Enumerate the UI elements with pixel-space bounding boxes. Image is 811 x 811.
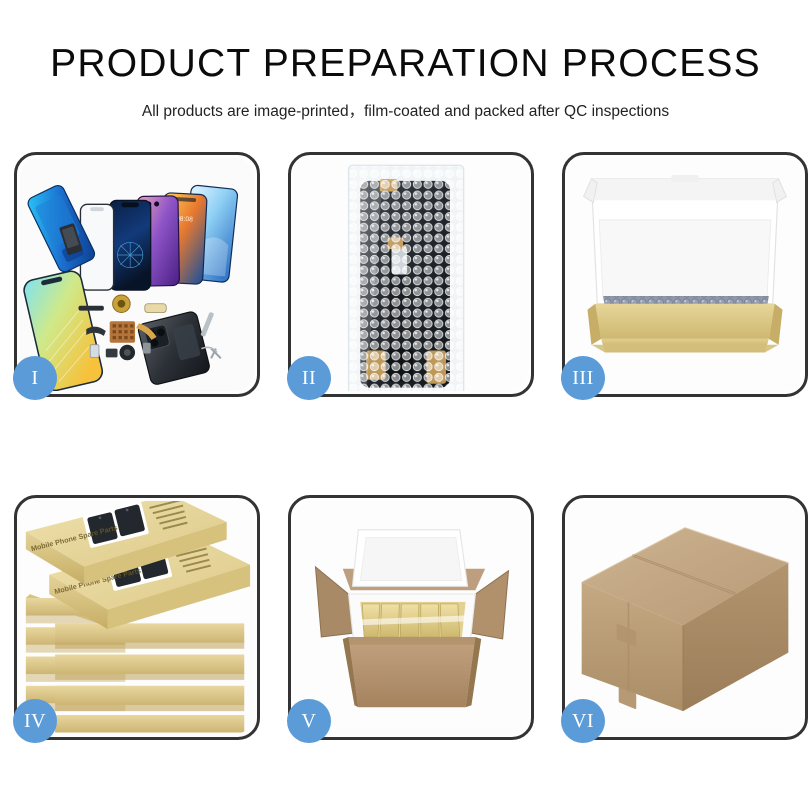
page-subtitle: All products are image-printed，film-coat… [0, 99, 811, 121]
phone-parts-collage-image: 08:08 [20, 158, 254, 391]
step-badge-4: IV [13, 699, 57, 743]
carton-with-foam-box-image [294, 501, 528, 734]
step-card-2[interactable]: II [288, 152, 534, 397]
step-badge-3: III [561, 356, 605, 400]
process-steps-grid: 08:08 [14, 152, 797, 732]
bubble-wrapped-screen-image [294, 158, 528, 391]
page-title: PRODUCT PREPARATION PROCESS [0, 44, 811, 83]
step-badge-6: VI [561, 699, 605, 743]
product-preparation-infographic: PRODUCT PREPARATION PROCESS All products… [0, 0, 811, 811]
step-card-1[interactable]: 08:08 [14, 152, 260, 397]
step-card-5[interactable]: V [288, 495, 534, 740]
open-gold-box-image [568, 158, 802, 391]
step-badge-5: V [287, 699, 331, 743]
stacked-gold-boxes-image: Mobile Phone Spare Parts [20, 501, 254, 734]
step-card-6[interactable]: VI [562, 495, 808, 740]
step-card-3[interactable]: III [562, 152, 808, 397]
step-card-4[interactable]: Mobile Phone Spare Parts [14, 495, 260, 740]
sealed-carton-image [568, 501, 802, 734]
step-badge-1: I [13, 356, 57, 400]
step-badge-2: II [287, 356, 331, 400]
header: PRODUCT PREPARATION PROCESS All products… [0, 0, 811, 121]
